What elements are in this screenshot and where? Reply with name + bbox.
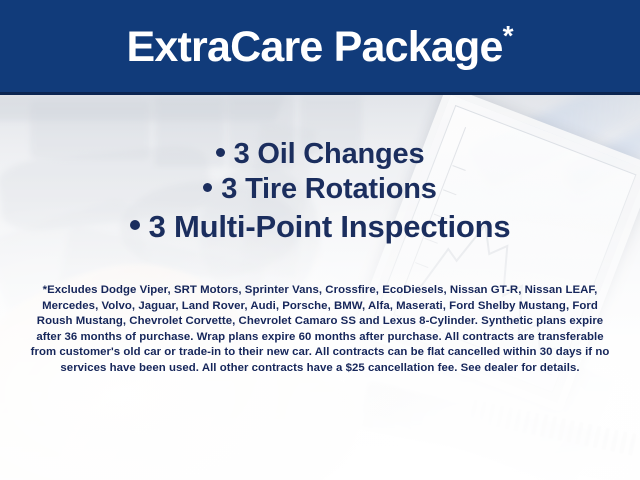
- offer-label: 3 Multi-Point Inspections: [149, 209, 511, 244]
- page-title-text: ExtraCare Package: [127, 23, 503, 71]
- list-item: 3 Multi-Point Inspections: [0, 208, 640, 246]
- banner-content: 3 Oil Changes 3 Tire Rotations 3 Multi-P…: [0, 95, 640, 480]
- page-title-asterisk: *: [503, 20, 514, 51]
- disclaimer-text: *Excludes Dodge Viper, SRT Motors, Sprin…: [28, 283, 612, 377]
- page-title: ExtraCare Package*: [127, 22, 514, 71]
- offer-list: 3 Oil Changes 3 Tire Rotations 3 Multi-P…: [0, 137, 640, 246]
- bullet-dot-icon: [130, 220, 140, 230]
- list-item: 3 Oil Changes: [0, 137, 640, 172]
- extracare-package-banner: ExtraCare Package* 3 Oil Changes 3 Tire …: [0, 0, 640, 480]
- offer-label: 3 Oil Changes: [234, 138, 425, 170]
- bullet-dot-icon: [203, 183, 212, 192]
- list-item: 3 Tire Rotations: [0, 172, 640, 207]
- header-band: ExtraCare Package*: [0, 0, 640, 92]
- bullet-dot-icon: [216, 148, 225, 157]
- offer-label: 3 Tire Rotations: [221, 173, 436, 205]
